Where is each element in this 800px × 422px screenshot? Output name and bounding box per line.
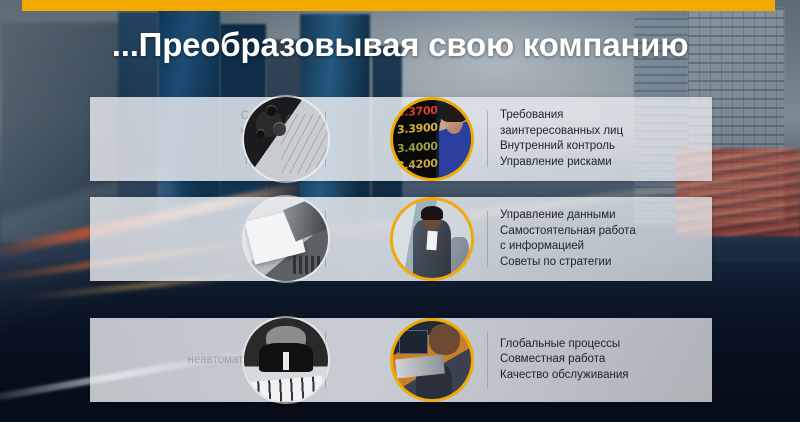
paper-chart-bars [293, 256, 322, 274]
desk-papers-photo [244, 197, 328, 281]
monitor-shape [399, 330, 428, 354]
content-row-2: Подготовка отчетности Управление данными… [90, 197, 712, 281]
row-3-divider-right [487, 332, 488, 388]
hair-shape [421, 206, 443, 220]
row-1-right-line-1: Требования [500, 108, 712, 124]
ticker-value-3: 3.4000 [397, 139, 438, 155]
row-2-right-line-4: Советы по стратегии [500, 255, 712, 271]
row-1-right-line-2: заинтересованных лиц [500, 124, 712, 140]
row-2-right-text: Управление данными Самостоятельная работ… [500, 197, 712, 281]
row-2-divider-right [487, 211, 488, 267]
row-1-right-line-3: Внутренний контроль [500, 139, 712, 155]
background-colleague [449, 237, 469, 278]
row-3-right-text: Глобальные процессы Совместная работа Ка… [500, 318, 712, 402]
ticker-value-2: 3.3900 [397, 120, 438, 136]
top-accent-bar [22, 0, 775, 11]
call-center-photo [390, 318, 474, 402]
camera-documents-photo [244, 97, 328, 181]
ticker-value-4: 3.4200 [397, 156, 438, 172]
row-2-right-line-2: Самостоятельная работа [500, 224, 712, 240]
row-3-right-line-1: Глобальные процессы [500, 337, 712, 353]
row-3-right-line-2: Совместная работа [500, 352, 712, 368]
businesswoman-tablet-photo [390, 197, 474, 281]
row-2-right-line-3: с информацией [500, 239, 712, 255]
row-2-right-line-1: Управление данными [500, 208, 712, 224]
woman-figure [439, 106, 473, 178]
ticker-value-1: 3.3700 [397, 103, 438, 119]
page-title: ...Преобразовывая свою компанию [0, 26, 800, 64]
slide: ...Преобразовывая свою компанию Соответс… [0, 0, 800, 422]
content-row-3: Локальные неавтоматизированные процессы … [90, 318, 712, 402]
content-row-1: Соответствие нормативным и правовым треб… [90, 97, 712, 181]
row-1-right-line-4: Управление рисками [500, 155, 712, 171]
stock-ticker-woman-photo: 3.3700 3.3900 3.4000 3.4200 [390, 97, 474, 181]
row-1-divider-right [487, 111, 488, 167]
stressed-man-photo [244, 318, 328, 402]
row-3-right-line-3: Качество обслуживания [500, 368, 712, 384]
tie-shape [283, 352, 290, 370]
row-1-right-text: Требования заинтересованных лиц Внутренн… [500, 97, 712, 181]
shirt-shape [427, 231, 438, 250]
